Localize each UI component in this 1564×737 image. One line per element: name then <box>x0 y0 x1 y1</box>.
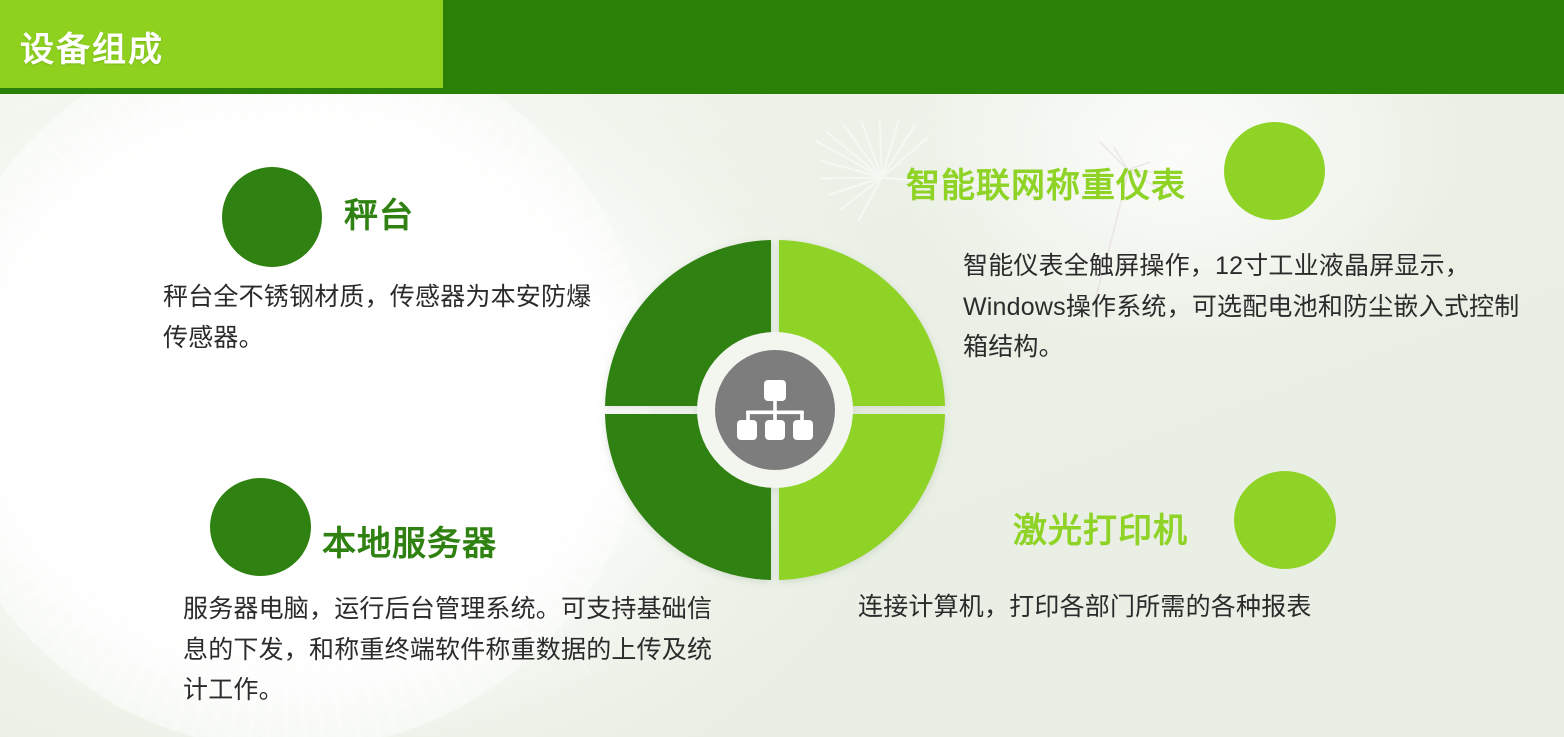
center-diagram <box>600 235 950 585</box>
slide-canvas: 设备组成 <box>0 0 1564 737</box>
node-title-weighing-platform: 秤台 <box>344 188 414 237</box>
node-body-smart-indicator: 智能仪表全触屏操作，12寸工业液晶屏显示，Windows操作系统，可选配电池和防… <box>963 246 1531 368</box>
node-body-weighing-platform: 秤台全不锈钢材质，传感器为本安防爆传感器。 <box>163 277 593 358</box>
node-bullet-dot <box>222 167 322 267</box>
node-bullet-dot <box>1234 471 1336 569</box>
header-bar: 设备组成 <box>0 0 1564 94</box>
node-title-smart-indicator: 智能联网称重仪表 <box>906 158 1186 207</box>
node-bullet-dot <box>1224 122 1325 220</box>
node-title-laser-printer: 激光打印机 <box>1013 503 1188 552</box>
node-body-laser-printer: 连接计算机，打印各部门所需的各种报表 <box>858 588 1478 629</box>
node-bullet-dot <box>210 478 311 576</box>
page-title: 设备组成 <box>20 22 164 71</box>
node-title-local-server: 本地服务器 <box>322 516 497 565</box>
node-body-local-server: 服务器电脑，运行后台管理系统。可支持基础信息的下发，和称重终端软件称重数据的上传… <box>183 589 713 711</box>
